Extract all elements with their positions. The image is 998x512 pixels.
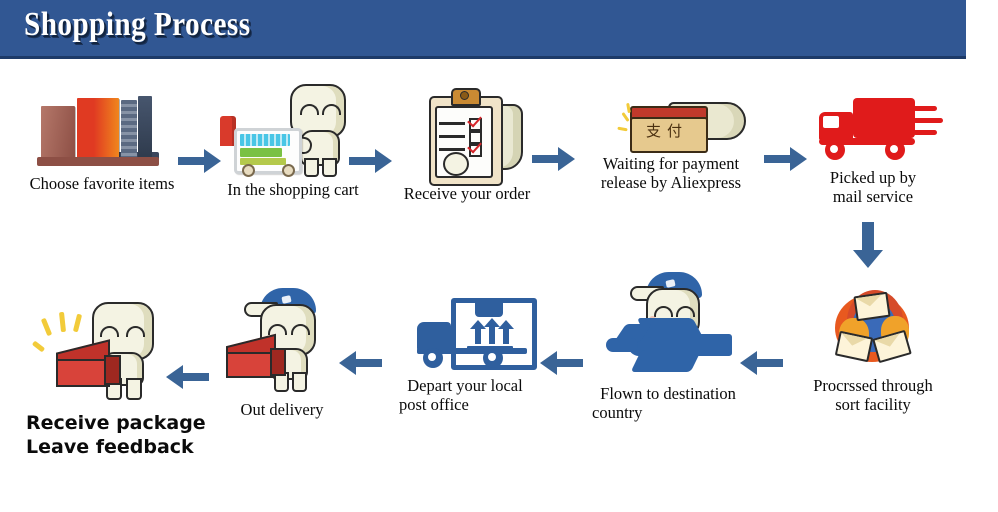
step-label-line2: mail service [798, 187, 948, 206]
mail-sort-icon [827, 288, 919, 372]
step-waiting-for-payment: 支付 Waiting for payment release by Aliexp… [578, 100, 764, 193]
page-title: Shopping Process [24, 6, 251, 44]
step-label-line1: Depart your local [385, 376, 545, 395]
step-label-line2: release by Aliexpress [578, 173, 764, 192]
stamp-characters: 支付 [630, 120, 704, 141]
step-out-delivery: Out delivery [212, 288, 352, 419]
step-flown-to-destination-country: Flown to destination country [578, 272, 758, 423]
happy-mascot-package-icon [30, 296, 180, 408]
step-label-line1: In the shopping cart [213, 180, 373, 199]
airplane-mascot-icon [588, 272, 748, 382]
step-receive-your-order: Receive your order [392, 90, 542, 203]
arrow-left-2 [540, 348, 584, 378]
bookshelf-icon [37, 96, 167, 174]
step-label-line2: post office [385, 395, 545, 414]
arrow-right-3 [532, 144, 576, 174]
step-label-line2: sort facility [788, 395, 958, 414]
step-picked-up-by-mail-service: Picked up by mail service [798, 96, 948, 207]
clipboard-checklist-icon [401, 90, 533, 182]
step-label-line1: Choose favorite items [12, 174, 192, 193]
shopping-process-infographic: Shopping Process Choose favorite items [0, 0, 998, 512]
step-label-line2: Leave feedback [10, 436, 200, 460]
red-truck-icon [807, 96, 939, 166]
arrow-right-2 [349, 146, 393, 176]
blue-post-truck-icon [395, 298, 535, 374]
arrow-down-1 [850, 222, 886, 270]
step-label-line1: Picked up by [798, 168, 948, 187]
delivery-mascot-icon [222, 288, 342, 398]
payment-stamp-icon: 支付 [606, 100, 736, 150]
step-label-line1: Receive package [10, 412, 200, 436]
step-in-the-shopping-cart: In the shopping cart [213, 84, 373, 199]
header-banner: Shopping Process [0, 0, 966, 59]
step-label-line1: Flown to destination [578, 384, 758, 403]
step-depart-your-local-post-office: Depart your local post office [385, 298, 545, 415]
step-choose-favorite-items: Choose favorite items [12, 96, 192, 193]
step-label-line1: Waiting for payment [578, 154, 764, 173]
step-label-line1: Procrssed through [788, 376, 958, 395]
step-label-line1: Receive your order [392, 184, 542, 203]
shopping-cart-mascot-icon [218, 84, 368, 176]
step-label-line2: country [578, 403, 758, 422]
step-processed-through-sort-facility: Procrssed through sort facility [788, 288, 958, 415]
step-receive-package-leave-feedback: Receive package Leave feedback [10, 296, 200, 460]
step-label-line1: Out delivery [212, 400, 352, 419]
